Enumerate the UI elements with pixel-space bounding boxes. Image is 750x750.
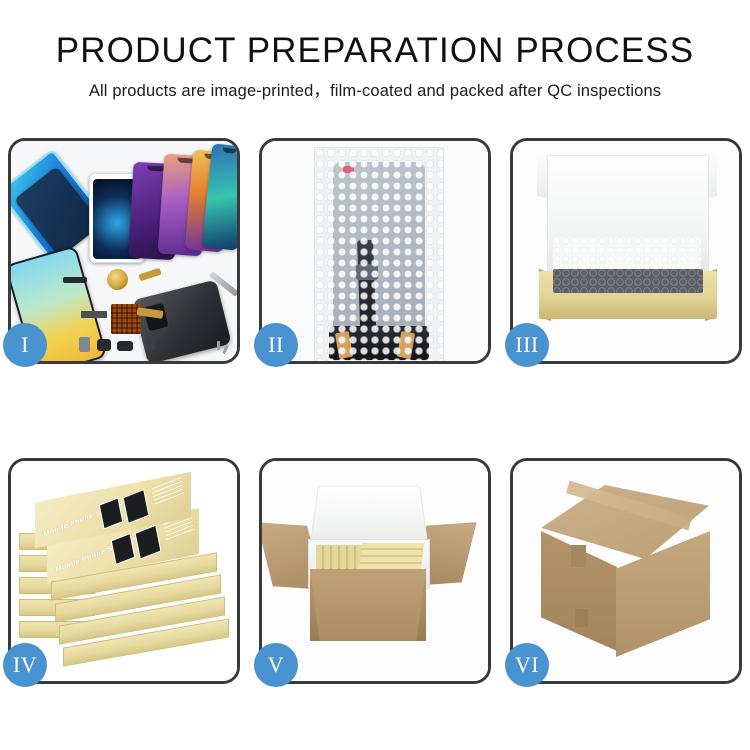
process-step-panel-3[interactable]: III xyxy=(510,138,742,364)
step-5-image xyxy=(262,461,488,681)
earpiece-mesh-part xyxy=(63,277,87,283)
screw-part xyxy=(217,341,220,350)
metal-bracket-part xyxy=(79,337,90,352)
page-title: PRODUCT PREPARATION PROCESS xyxy=(0,30,750,72)
process-step-panel-6[interactable]: VI xyxy=(510,458,742,684)
page-header: PRODUCT PREPARATION PROCESS All products… xyxy=(0,0,750,101)
wrapped-screen xyxy=(333,162,425,350)
step-4-image: Mobile Phone Spare Parts Mobile Phone Sp… xyxy=(11,461,237,681)
step-1-image xyxy=(11,141,237,361)
step-badge-1: I xyxy=(3,323,47,367)
foam-lid-open xyxy=(309,486,428,548)
process-step-panel-4[interactable]: Mobile Phone Spare Parts Mobile Phone Sp… xyxy=(8,458,240,684)
small-module-part xyxy=(145,337,155,350)
bubble-wrapped-contents xyxy=(553,269,703,293)
gold-box-stack: Mobile Phone Spare Parts Mobile Phone Sp… xyxy=(11,461,237,681)
process-step-panel-1[interactable]: I xyxy=(8,138,240,364)
process-step-grid: I II xyxy=(8,138,742,684)
small-module-part xyxy=(117,341,133,351)
small-module-part xyxy=(97,339,111,351)
step-badge-5: V xyxy=(254,643,298,687)
step-3-image xyxy=(513,141,739,361)
step-2-image xyxy=(262,141,488,361)
gold-coil-part xyxy=(107,269,128,290)
connector-strip-part xyxy=(81,311,107,318)
step-badge-3: III xyxy=(505,323,549,367)
step-badge-6: VI xyxy=(505,643,549,687)
step-6-image xyxy=(513,461,739,681)
page-subtitle: All products are image-printed，film-coat… xyxy=(0,81,750,101)
step-badge-2: II xyxy=(254,323,298,367)
carton-front-panel xyxy=(310,569,426,641)
process-step-panel-2[interactable]: II xyxy=(259,138,491,364)
process-step-panel-5[interactable]: V xyxy=(259,458,491,684)
step-badge-4: IV xyxy=(3,643,47,687)
bubble-wrap-bag xyxy=(314,147,444,361)
